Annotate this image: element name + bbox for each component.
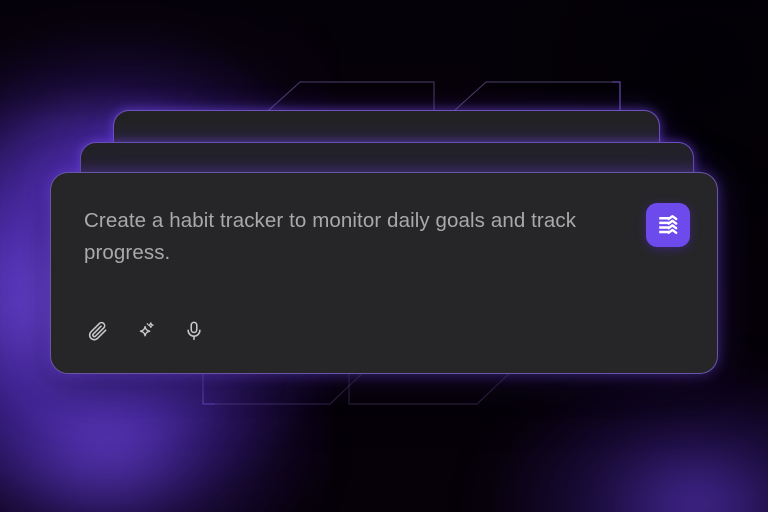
- sparkles-icon: [135, 320, 157, 342]
- prompt-input[interactable]: Create a habit tracker to monitor daily …: [84, 205, 584, 269]
- background-top-fade: [0, 0, 768, 120]
- stacked-waves-icon: [655, 212, 681, 238]
- enhance-prompt-button[interactable]: [130, 315, 162, 347]
- paperclip-icon: [87, 320, 109, 342]
- microphone-icon: [183, 320, 205, 342]
- send-button[interactable]: [646, 203, 690, 247]
- voice-input-button[interactable]: [178, 315, 210, 347]
- composer-toolbar: [82, 315, 210, 347]
- prompt-composer-panel[interactable]: Create a habit tracker to monitor daily …: [50, 172, 718, 374]
- app-root: Create a habit tracker to monitor daily …: [0, 0, 768, 512]
- background-glow-bottom-right: [480, 350, 768, 512]
- attach-file-button[interactable]: [82, 315, 114, 347]
